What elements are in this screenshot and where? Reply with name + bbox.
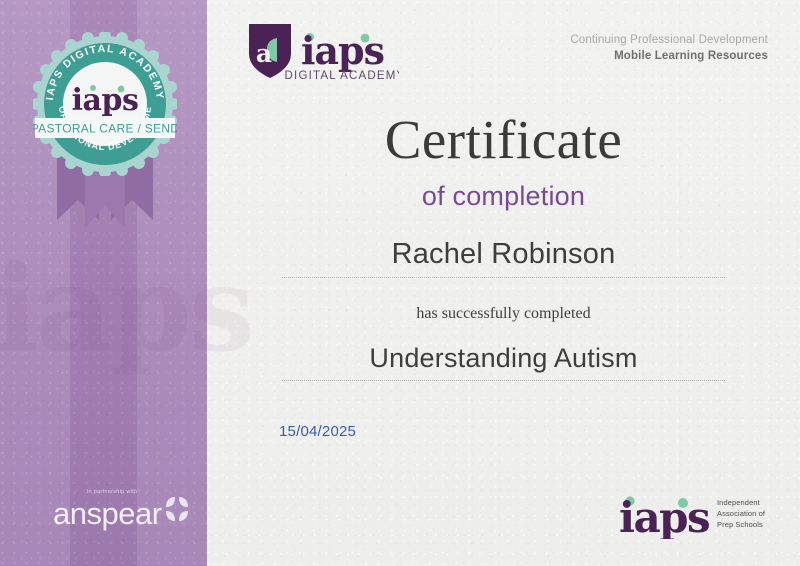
page-subtitle: of completion	[207, 181, 800, 212]
course-name-rule	[282, 380, 725, 381]
course-name: Understanding Autism	[207, 343, 800, 374]
anspear-leaf-icon	[163, 495, 191, 523]
iaps-tagline: Independent Association of Prep Schools	[717, 498, 765, 531]
iaps-tagline-line-2: Association of	[717, 509, 765, 520]
svg-text:PASTORAL CARE / SEND: PASTORAL CARE / SEND	[33, 122, 177, 136]
seal-center-wordmark: iaps	[72, 83, 139, 118]
panel-watermark-text: iaps	[0, 250, 214, 368]
completion-date: 15/04/2025	[279, 423, 356, 440]
iaps-association-logo: iaps Independent Association of Prep Sch…	[617, 489, 772, 539]
certificate-page: iaps	[0, 0, 800, 566]
certificate-body: Certificate of completion Rachel Robinso…	[207, 0, 800, 566]
iaps-footer-wordmark: iaps	[619, 493, 709, 539]
svg-text:iaps: iaps	[72, 83, 139, 118]
seal-banner: PASTORAL CARE / SEND	[33, 118, 177, 138]
iaps-tagline-line-1: Independent	[717, 498, 765, 509]
recipient-name: Rachel Robinson	[207, 238, 800, 271]
award-seal: IAPS DIGITAL ACADEMY PROFESSIONAL DEVELO…	[33, 32, 177, 176]
page-title: Certificate	[207, 112, 800, 167]
recipient-name-rule	[282, 277, 725, 278]
iaps-tagline-line-3: Prep Schools	[717, 520, 765, 531]
partner-label: in partnership with	[87, 489, 137, 495]
completion-statement: has successfully completed	[207, 305, 800, 323]
anspear-partner-logo: in partnership with anspear	[53, 489, 203, 541]
anspear-wordmark: anspear	[53, 498, 162, 529]
left-decorative-panel: iaps	[0, 0, 207, 566]
